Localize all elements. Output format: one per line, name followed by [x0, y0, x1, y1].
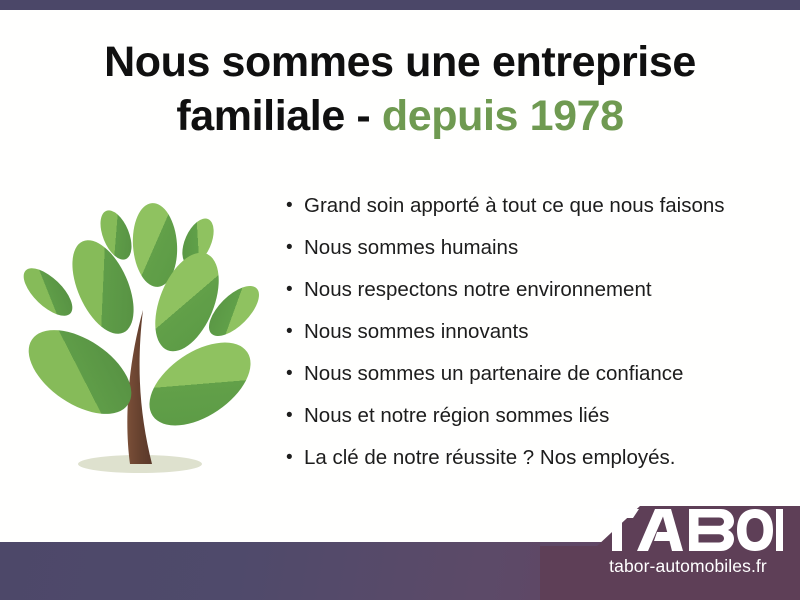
list-item-label: Nous respectons notre environnement: [304, 276, 652, 303]
list-item: • Grand soin apporté à tout ce que nous …: [286, 192, 786, 234]
list-item: • La clé de notre réussite ? Nos employé…: [286, 444, 786, 486]
page-title: Nous sommes une entreprise familiale - d…: [60, 36, 740, 144]
bullet-list: • Grand soin apporté à tout ce que nous …: [286, 192, 786, 486]
top-accent-bar: [0, 0, 800, 10]
logo-website-url: tabor-automobiles.fr: [593, 556, 783, 577]
slide-canvas: Nous sommes une entreprise familiale - d…: [0, 0, 800, 600]
list-item-label: Grand soin apporté à tout ce que nous fa…: [304, 192, 725, 219]
list-item-label: Nous sommes un partenaire de confiance: [304, 360, 683, 387]
title-line-1: Nous sommes une entreprise: [104, 38, 696, 86]
bullet-marker-icon: •: [286, 402, 304, 429]
bullet-marker-icon: •: [286, 192, 304, 219]
bullet-marker-icon: •: [286, 360, 304, 387]
list-item-label: Nous sommes humains: [304, 234, 518, 261]
list-item: • Nous sommes humains: [286, 234, 786, 276]
list-item: • Nous respectons notre environnement: [286, 276, 786, 318]
bullet-marker-icon: •: [286, 318, 304, 345]
bullet-marker-icon: •: [286, 276, 304, 303]
leaf: [135, 326, 265, 443]
tree-trunk: [127, 310, 152, 464]
leaf: [16, 260, 80, 323]
list-item-label: Nous sommes innovants: [304, 318, 528, 345]
list-item: • Nous sommes un partenaire de confiance: [286, 360, 786, 402]
title-line-2-plain: familiale -: [176, 92, 382, 140]
title-line-2-highlight: depuis 1978: [382, 92, 624, 140]
list-item: • Nous et notre région sommes liés: [286, 402, 786, 444]
list-item-label: La clé de notre réussite ? Nos employés.: [304, 444, 675, 471]
list-item-label: Nous et notre région sommes liés: [304, 402, 609, 429]
bullet-marker-icon: •: [286, 444, 304, 471]
tree-illustration: [12, 192, 272, 492]
list-item: • Nous sommes innovants: [286, 318, 786, 360]
tabor-logo-icon: [593, 509, 783, 551]
bullet-marker-icon: •: [286, 234, 304, 261]
